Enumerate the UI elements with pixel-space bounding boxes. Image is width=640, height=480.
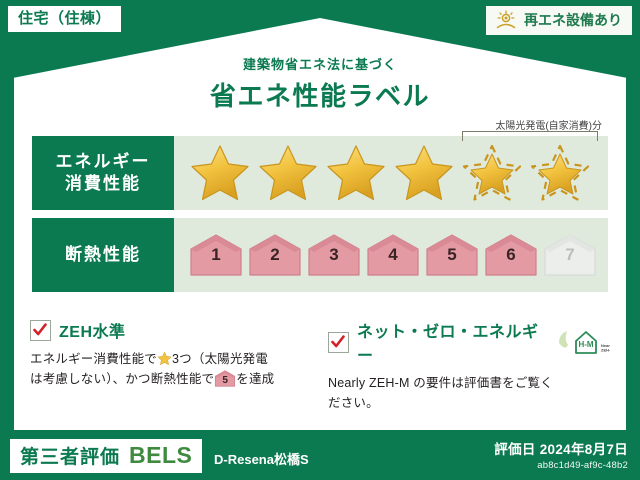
zeh-level-checkbox[interactable] bbox=[30, 320, 51, 341]
footer-bar: 第三者評価 BELS D-Resena松橋S 評価日 2024年8月7日 ab8… bbox=[0, 432, 640, 480]
energy-performance-label: 住宅（住棟） 再エネ設備あり 建築物省エネ法に基づく 省エネ性能ラベル エネルギ… bbox=[0, 0, 640, 480]
insulation-grade-3-value: 3 bbox=[306, 245, 362, 265]
nze-body-text-1: Nearly ZEH-M の要件は評価書をご覧く bbox=[328, 376, 553, 390]
check-icon bbox=[330, 334, 346, 350]
criteria-section: ZEH水準 エネルギー消費性能で3つ（太陽光発電 は考慮しない）、かつ断熱性能で… bbox=[30, 318, 610, 414]
performance-rows: エネルギー 消費性能 太陽光発電(自家消費)分 bbox=[32, 136, 608, 300]
insulation-label-line1: 断熱性能 bbox=[65, 244, 141, 266]
bels-certification-box: 第三者評価 BELS bbox=[10, 439, 202, 473]
criterion-zeh-body: エネルギー消費性能で3つ（太陽光発電 は考慮しない）、かつ断熱性能で5を達成 bbox=[30, 349, 312, 390]
insulation-grade-1-value: 1 bbox=[188, 245, 244, 265]
net-zero-energy-checkbox[interactable] bbox=[328, 332, 349, 353]
insulation-grade-scale: 1 2 3 4 bbox=[174, 233, 598, 277]
insulation-grade-4-value: 4 bbox=[365, 245, 421, 265]
check-icon bbox=[32, 322, 48, 338]
star-rating bbox=[174, 142, 592, 204]
renewable-badge-label: 再エネ設備あり bbox=[524, 10, 622, 30]
criterion-zeh-header: ZEH水準 bbox=[30, 318, 312, 342]
insulation-grade-2: 2 bbox=[247, 233, 303, 277]
zeh-body-text-3: は考慮しない）、かつ断熱性能で bbox=[30, 372, 214, 386]
criterion-nze-header: ネット・ゼロ・エネルギー H-M Nearly ZEH-M bbox=[328, 318, 610, 366]
energy-consumption-row: エネルギー 消費性能 太陽光発電(自家消費)分 bbox=[32, 136, 608, 210]
insulation-grade-1: 1 bbox=[188, 233, 244, 277]
energy-label-line2: 消費性能 bbox=[65, 173, 141, 195]
insulation-row: 断熱性能 1 2 3 bbox=[32, 218, 608, 292]
star-solar-6 bbox=[528, 142, 592, 204]
svg-text:ZEH-M: ZEH-M bbox=[601, 348, 610, 353]
zeh-body-text-2: 3つ（太陽光発電 bbox=[172, 352, 268, 366]
star-filled-1 bbox=[188, 142, 252, 204]
solar-annotation-label: 太陽光発電(自家消費)分 bbox=[495, 117, 602, 132]
renewable-equipment-badge: 再エネ設備あり bbox=[486, 6, 632, 35]
energy-row-label: エネルギー 消費性能 bbox=[32, 136, 174, 210]
solar-annotation-bracket bbox=[462, 131, 598, 141]
label-title-block: 建築物省エネ法に基づく 省エネ性能ラベル bbox=[0, 54, 640, 113]
inline-grade-value: 5 bbox=[214, 373, 236, 389]
insulation-grade-6-value: 6 bbox=[483, 245, 539, 265]
criterion-nze-body: Nearly ZEH-M の要件は評価書をご覧く ださい。 bbox=[328, 373, 610, 414]
insulation-grade-5-value: 5 bbox=[424, 245, 480, 265]
energy-row-body: 太陽光発電(自家消費)分 bbox=[174, 136, 608, 210]
zeh-body-text-4: を達成 bbox=[236, 372, 274, 386]
insulation-grade-6: 6 bbox=[483, 233, 539, 277]
evaluation-date-value: 2024年8月7日 bbox=[540, 442, 628, 457]
zeh-body-text-1: エネルギー消費性能で bbox=[30, 352, 157, 366]
evaluation-id: ab8c1d49-af9c-48b2 bbox=[494, 460, 628, 471]
building-type-chip: 住宅（住棟） bbox=[8, 6, 121, 32]
solar-sun-icon bbox=[494, 10, 518, 30]
nze-body-text-2: ださい。 bbox=[328, 396, 379, 410]
star-solar-5 bbox=[460, 142, 524, 204]
evaluation-date-label: 評価日 bbox=[494, 442, 535, 457]
insulation-grade-4: 4 bbox=[365, 233, 421, 277]
page-title: 省エネ性能ラベル bbox=[0, 76, 640, 113]
insulation-row-body: 1 2 3 4 bbox=[174, 218, 608, 292]
criterion-net-zero-energy: ネット・ゼロ・エネルギー H-M Nearly ZEH-M Nearly ZEH… bbox=[328, 318, 610, 414]
inline-star-icon bbox=[157, 351, 172, 366]
insulation-row-label: 断熱性能 bbox=[32, 218, 174, 292]
energy-label-line1: エネルギー bbox=[56, 151, 151, 173]
evaluation-date: 評価日 2024年8月7日 bbox=[494, 438, 628, 458]
criterion-zeh-level: ZEH水準 エネルギー消費性能で3つ（太陽光発電 は考慮しない）、かつ断熱性能で… bbox=[30, 318, 312, 414]
star-filled-3 bbox=[324, 142, 388, 204]
insulation-grade-7-value: 7 bbox=[542, 245, 598, 265]
nearly-zeh-m-logo-icon: H-M Nearly ZEH-M bbox=[556, 327, 610, 357]
evaluation-info: 評価日 2024年8月7日 ab8c1d49-af9c-48b2 bbox=[494, 438, 628, 471]
star-filled-2 bbox=[256, 142, 320, 204]
building-name: D-Resena松橋S bbox=[214, 449, 309, 468]
bels-en-label: BELS bbox=[129, 442, 192, 469]
insulation-grade-5: 5 bbox=[424, 233, 480, 277]
star-filled-4 bbox=[392, 142, 456, 204]
insulation-grade-3: 3 bbox=[306, 233, 362, 277]
insulation-grade-2-value: 2 bbox=[247, 245, 303, 265]
criterion-zeh-title: ZEH水準 bbox=[59, 318, 126, 342]
criterion-nze-title: ネット・ゼロ・エネルギー bbox=[357, 318, 548, 366]
title-subtitle: 建築物省エネ法に基づく bbox=[0, 54, 640, 73]
insulation-grade-7: 7 bbox=[542, 233, 598, 277]
bels-jp-label: 第三者評価 bbox=[20, 442, 120, 469]
svg-text:H-M: H-M bbox=[578, 340, 593, 349]
inline-grade-house-icon: 5 bbox=[214, 370, 236, 387]
